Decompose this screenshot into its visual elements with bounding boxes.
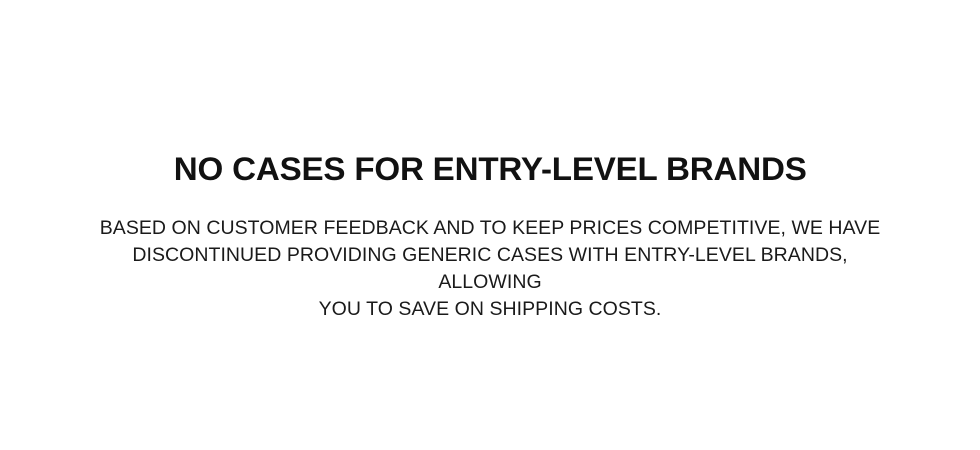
page-title: NO CASES FOR ENTRY-LEVEL BRANDS — [174, 150, 807, 188]
promo-description-line: BASED ON CUSTOMER FEEDBACK AND TO KEEP P… — [90, 215, 890, 242]
promo-description-line: DISCONTINUED PROVIDING GENERIC CASES WIT… — [90, 242, 890, 296]
promo-banner: NO CASES FOR ENTRY-LEVEL BRANDS BASED ON… — [0, 0, 980, 450]
promo-description: BASED ON CUSTOMER FEEDBACK AND TO KEEP P… — [90, 215, 890, 323]
promo-description-line: YOU TO SAVE ON SHIPPING COSTS. — [90, 296, 890, 323]
